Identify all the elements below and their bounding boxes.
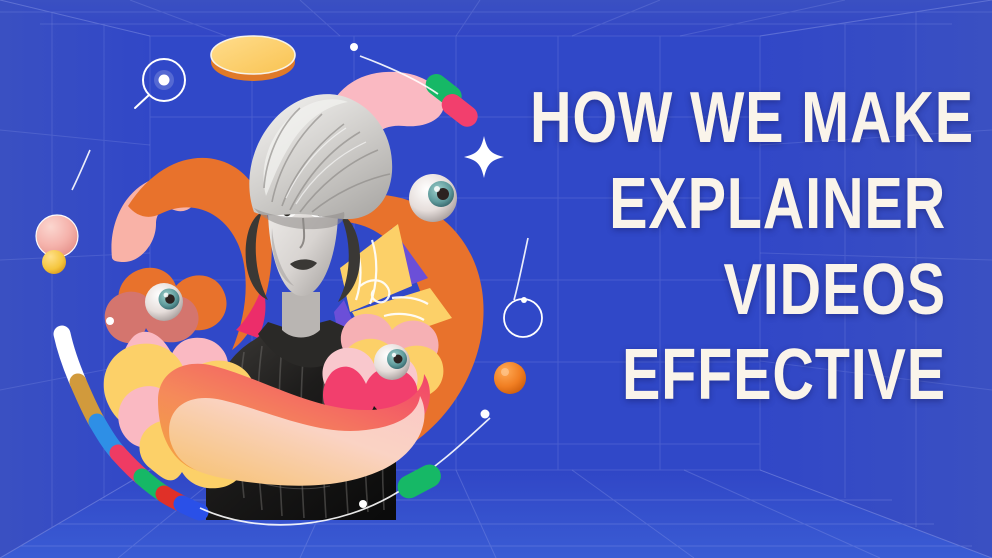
slide-canvas: HOW WE MAKE EXPLAINER VIDEOS EFFECTIVE <box>0 0 992 558</box>
green-pill-capsule <box>394 460 445 502</box>
title-line-4: EFFECTIVE <box>530 341 946 411</box>
magnifier-icon <box>135 59 185 108</box>
white-dot-1 <box>350 43 358 51</box>
yellow-coin-disc <box>211 36 295 81</box>
page-title: HOW WE MAKE EXPLAINER VIDEOS EFFECTIVE <box>426 84 946 411</box>
title-line-1: HOW WE MAKE <box>530 84 946 154</box>
thin-white-tick-left <box>72 150 90 190</box>
white-dot-2 <box>106 317 114 325</box>
eyeball-lower-center <box>374 344 410 380</box>
yellow-sphere-small <box>42 250 66 274</box>
white-dot-4 <box>359 500 367 508</box>
title-line-2: EXPLAINER <box>530 170 946 240</box>
eyeball-mid-left <box>145 283 183 321</box>
title-line-3: VIDEOS <box>530 256 946 326</box>
